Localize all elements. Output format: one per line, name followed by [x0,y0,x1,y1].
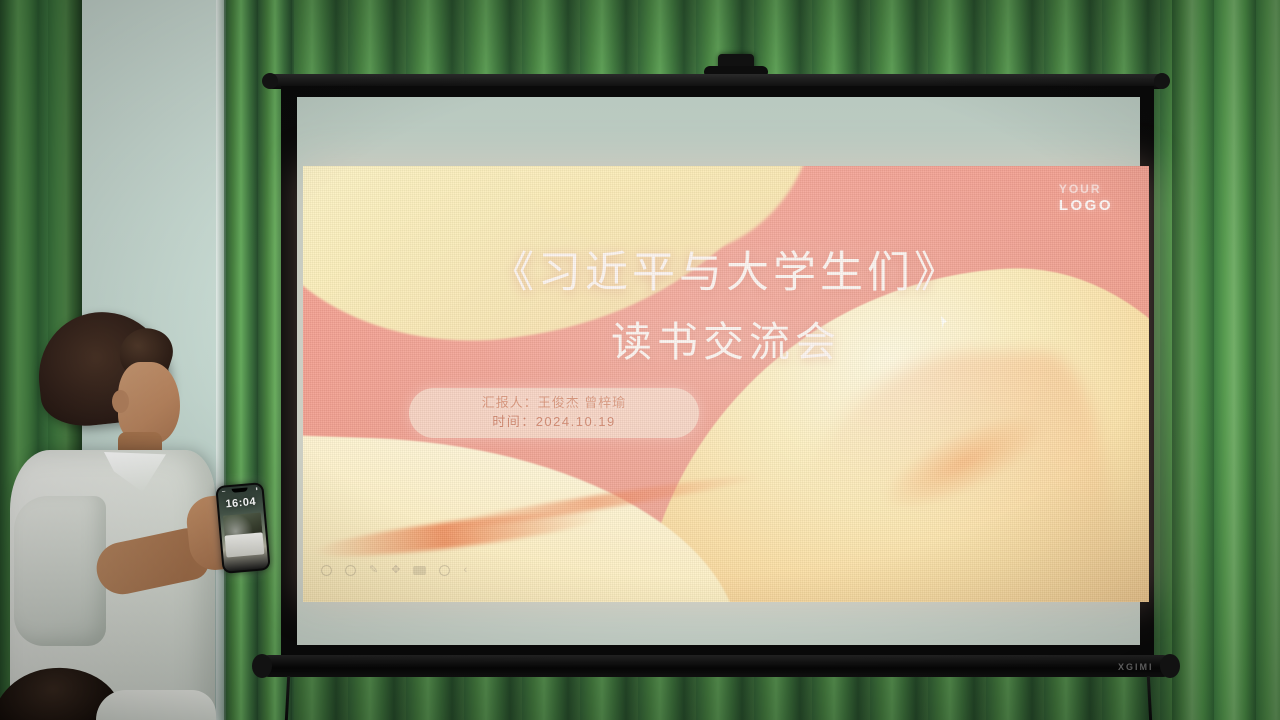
slide-title-sub: 读书交流会 [303,308,1149,368]
logo-line-1: YOUR [1059,182,1113,197]
phone-lockscreen-clock: 16:04 [218,495,263,511]
slides-icon[interactable] [413,566,426,575]
record-icon[interactable] [345,565,356,576]
circle-icon[interactable] [439,565,450,576]
phone-status-right: ▮ [256,487,258,491]
phone-notification-card[interactable] [225,532,265,557]
slide-presenter-line: 汇报人：王俊杰 曾梓瑜 [482,394,627,413]
slide-date-line: 时间：2024.10.19 [492,413,616,432]
collapse-icon[interactable]: ‹ [463,565,467,576]
smartphone[interactable]: ••• ▮ 16:04 [215,482,270,574]
screen-top-bar-cap-right [1154,73,1170,89]
curtain-right [1172,0,1280,720]
slide-logo-placeholder: YOUR LOGO [1059,182,1113,216]
pen-icon[interactable]: ✎ [369,565,378,576]
phone-status-left: ••• [222,489,226,493]
screen-brand-label: XGIMI [1118,662,1154,672]
screen-top-bar-cap-left [262,73,278,89]
screen-bottom-cap-left [252,654,272,678]
photo-scene: YOUR LOGO 《习近平与大学生们》 读书交流会 汇报人：王俊杰 曾梓瑜 时… [0,0,1280,720]
logo-line-2: LOGO [1059,197,1113,216]
audience-member-shoulder [96,690,216,720]
screen-bottom-cap-right [1160,654,1180,678]
slide-title-main: 《习近平与大学生们》 [303,238,1149,300]
presenter-figure [0,300,240,720]
slide-title-block: 《习近平与大学生们》 读书交流会 [303,238,1149,368]
slide-presenter-pill: 汇报人：王俊杰 曾梓瑜 时间：2024.10.19 [409,388,699,438]
presenter-ear [112,390,129,413]
screen-bottom-bar [258,655,1174,677]
play-icon[interactable] [321,565,332,576]
pointer-icon[interactable]: ✥ [391,565,400,576]
phone-screen[interactable]: ••• ▮ 16:04 [217,484,268,572]
projected-slide: YOUR LOGO 《习近平与大学生们》 读书交流会 汇报人：王俊杰 曾梓瑜 时… [303,166,1149,602]
presenter-sleeve [14,496,106,646]
phone-status-bar: ••• ▮ [218,486,262,494]
presentation-toolbar[interactable]: ✎ ✥ ‹ [321,565,467,576]
